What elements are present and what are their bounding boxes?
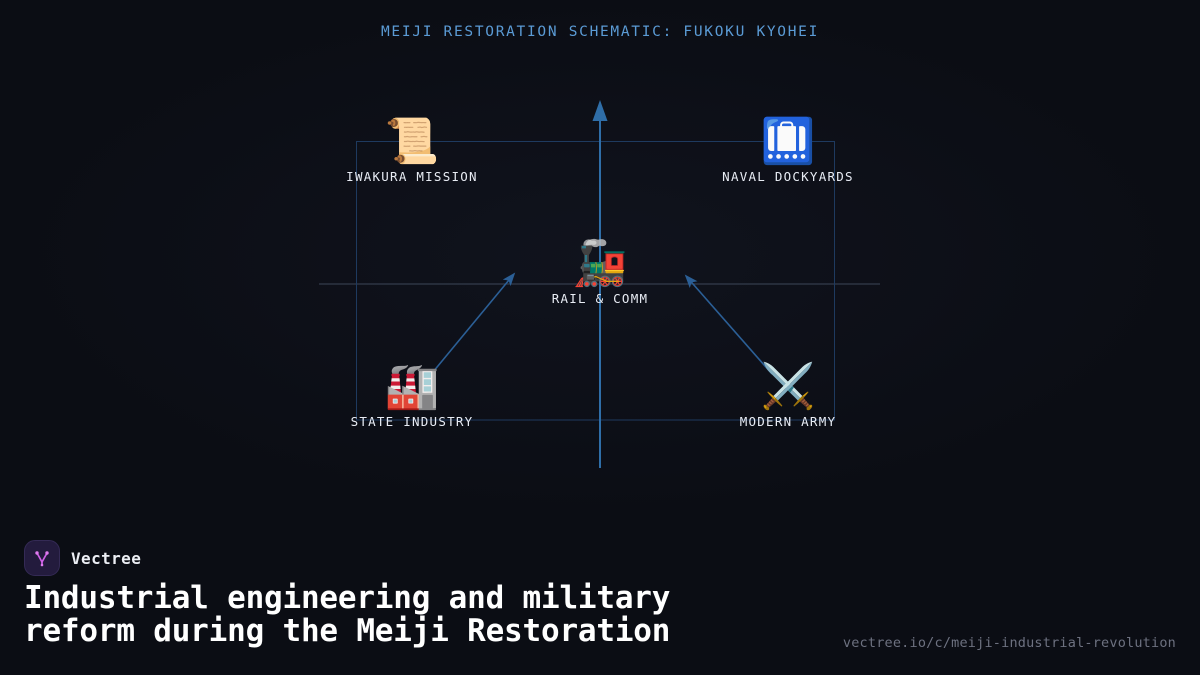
connector-modern-army-to-rail [686,276,772,374]
vectree-logo-icon [24,540,60,576]
caption-line-1: Industrial engineering and military [24,582,824,615]
caption: Industrial engineering and military refo… [24,582,824,648]
brand-name: Vectree [71,549,141,568]
vectree-mark [32,548,52,568]
footer: Vectree Industrial engineering and milit… [0,530,1200,675]
schematic-diagram: 📜 IWAKURA MISSION 🛄 NAVAL DOCKYARDS 🚂 RA… [0,0,1200,520]
connector-state-industry-to-rail [428,274,514,378]
caption-line-2: reform during the Meiji Restoration [24,615,824,648]
brand-row[interactable]: Vectree [24,540,141,576]
vertical-axis-arrowhead [593,100,608,121]
quadrant-frame [357,142,835,421]
diagram-canvas [0,0,1200,520]
screenshot-root: MEIJI RESTORATION SCHEMATIC: FUKOKU KYOH… [0,0,1200,675]
site-url[interactable]: vectree.io/c/meiji-industrial-revolution [843,635,1176,651]
